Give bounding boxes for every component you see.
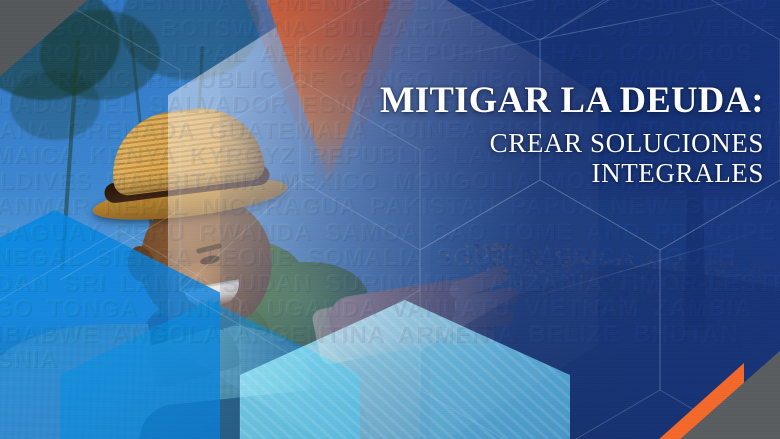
headline-block: MITIGAR LA DEUDA: CREAR SOLUCIONES INTEG… [380, 80, 764, 188]
page-subtitle: CREAR SOLUCIONES INTEGRALES [380, 128, 764, 188]
subtitle-line-1: CREAR SOLUCIONES [380, 128, 764, 158]
hexagon-mesh-icon [0, 0, 780, 439]
subtitle-line-2: INTEGRALES [380, 158, 764, 188]
debt-relief-banner: ANGOLA ARGENTINA ARMENIA BELIZE BHUTAN B… [0, 0, 780, 439]
page-title: MITIGAR LA DEUDA: [380, 80, 764, 120]
